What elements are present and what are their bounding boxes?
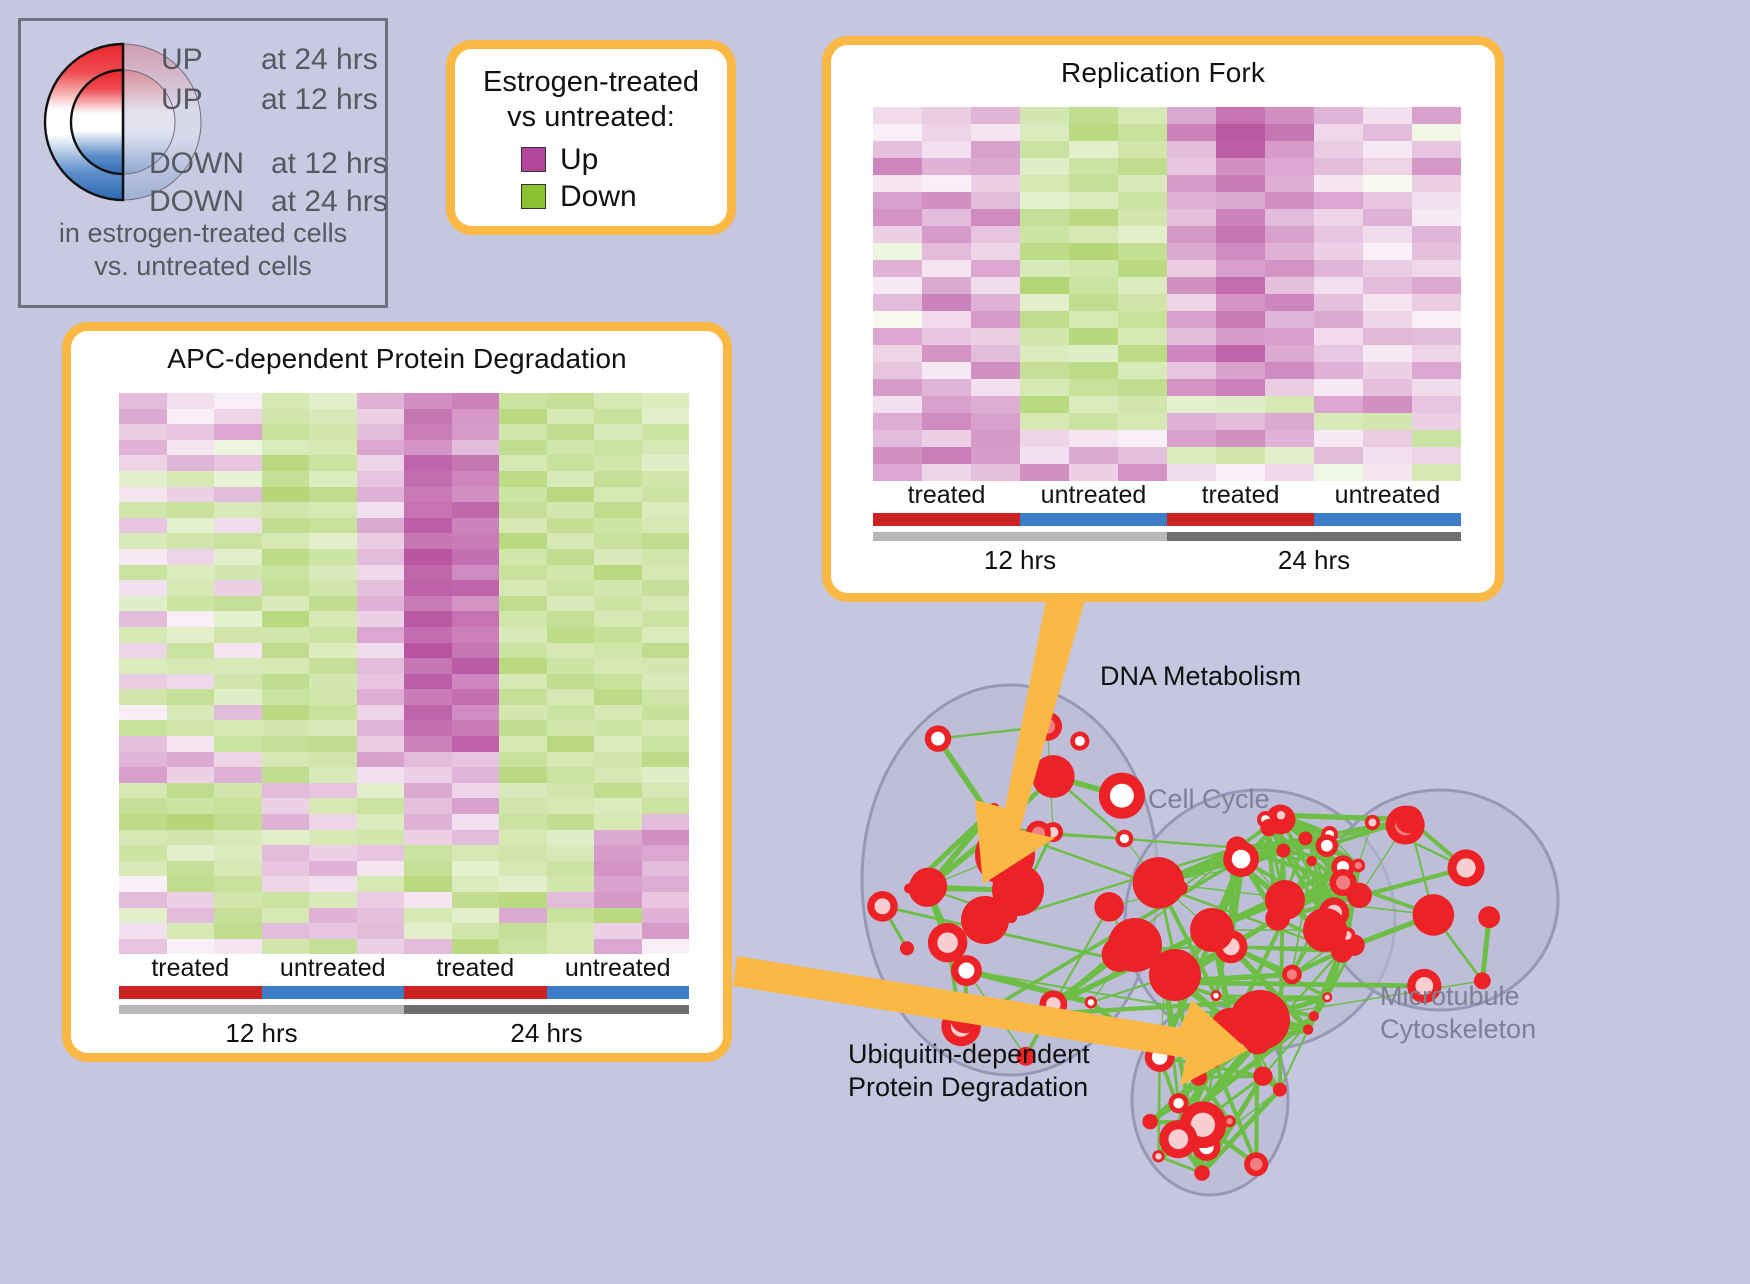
cluster-label-ubiquitin-degradation: Ubiquitin-dependent Protein Degradation [848, 1038, 1090, 1104]
heatmap-cell [547, 736, 595, 752]
heatmap-cell [119, 580, 167, 596]
network-node[interactable] [1413, 894, 1455, 936]
heatmap-cell [119, 611, 167, 627]
heatmap-cell [262, 720, 310, 736]
heatmap-cell [452, 643, 500, 659]
heatmap-cell [1020, 141, 1069, 158]
heatmap-cell [309, 440, 357, 456]
heatmap-cell [1216, 328, 1265, 345]
heatmap-cell [642, 533, 690, 549]
heatmap-cell [1412, 464, 1461, 481]
network-node[interactable] [1152, 1150, 1164, 1162]
network-node[interactable] [1190, 908, 1234, 952]
heatmap-cell [309, 393, 357, 409]
heatmap-cell [404, 892, 452, 908]
heatmap-cell [262, 518, 310, 534]
heatmap-cell [1167, 260, 1216, 277]
heatmap-cell [1118, 277, 1167, 294]
network-node[interactable] [1194, 1165, 1210, 1181]
heatmap-cell [1118, 447, 1167, 464]
heatmap-cell [1167, 430, 1216, 447]
heatmap-cell [499, 611, 547, 627]
heatmap-cell [642, 471, 690, 487]
heatmap-cell [262, 908, 310, 924]
network-node[interactable] [1116, 830, 1134, 848]
heatmap-cell [1363, 124, 1412, 141]
network-node[interactable] [1299, 831, 1313, 845]
condition-label: untreated [1314, 481, 1461, 513]
heatmap-cell [119, 798, 167, 814]
heatmap-cell [642, 752, 690, 768]
heatmap-cell [167, 643, 215, 659]
heatmap-cell [971, 243, 1020, 260]
heatmap-cell [1265, 328, 1314, 345]
heatmap-cell [357, 705, 405, 721]
heatmap-cell [214, 845, 262, 861]
heatmap-cell [1069, 413, 1118, 430]
heatmap-cell [309, 455, 357, 471]
heatmap-cell [594, 440, 642, 456]
heatmap-cell [1363, 396, 1412, 413]
network-node[interactable] [909, 870, 946, 907]
heatmap-cell [404, 783, 452, 799]
heatmap-cell [1363, 464, 1412, 481]
network-node[interactable] [1099, 773, 1145, 819]
network-node[interactable] [1085, 996, 1097, 1008]
heatmap-cell [1216, 345, 1265, 362]
heatmap-cell [452, 720, 500, 736]
heatmap-cell [167, 565, 215, 581]
key-footer-line1: in estrogen-treated cells [21, 217, 385, 250]
heatmap-cell [1216, 362, 1265, 379]
heatmap-cell [922, 413, 971, 430]
network-node[interactable] [1347, 883, 1372, 908]
network-node[interactable] [1273, 1083, 1287, 1097]
heatmap-cell [1216, 396, 1265, 413]
network-node[interactable] [1223, 841, 1259, 877]
network-node[interactable] [1190, 1069, 1207, 1086]
replication-fork-time-labels: 12 hrs24 hrs [873, 541, 1461, 576]
heatmap-cell [499, 939, 547, 955]
heatmap-cell [547, 908, 595, 924]
network-node[interactable] [1094, 892, 1124, 922]
heatmap-cell [262, 876, 310, 892]
heatmap-cell [309, 814, 357, 830]
heatmap-cell [873, 430, 922, 447]
network-node[interactable] [1142, 1114, 1157, 1129]
heatmap-cell [167, 783, 215, 799]
heatmap-cell [1216, 192, 1265, 209]
heatmap-cell [499, 440, 547, 456]
heatmap-cell [214, 939, 262, 955]
heatmap-cell [404, 861, 452, 877]
network-node[interactable] [1209, 1056, 1221, 1068]
heatmap-cell [873, 124, 922, 141]
heatmap-cell [214, 580, 262, 596]
heatmap-cell [594, 736, 642, 752]
heatmap-cell [1216, 447, 1265, 464]
network-node[interactable] [1265, 880, 1305, 920]
heatmap-cell [309, 471, 357, 487]
network-node[interactable] [1306, 856, 1316, 866]
network-node[interactable] [1303, 1024, 1313, 1034]
heatmap-cell [452, 674, 500, 690]
network-node[interactable] [900, 941, 914, 955]
heatmap-cell [262, 580, 310, 596]
heatmap-cell [214, 923, 262, 939]
heatmap-cell [309, 908, 357, 924]
heatmap-cell [357, 752, 405, 768]
heatmap-cell [167, 689, 215, 705]
heatmap-cell [1216, 175, 1265, 192]
legend-item-up: Up [521, 143, 727, 177]
heatmap-cell [1265, 107, 1314, 124]
heatmap-cell [922, 107, 971, 124]
heatmap-cell [1069, 260, 1118, 277]
time-bar [119, 1005, 404, 1014]
heatmap-cell [499, 533, 547, 549]
network-node[interactable] [1351, 859, 1365, 873]
heatmap-cell [1412, 311, 1461, 328]
heatmap-cell [1314, 311, 1363, 328]
heatmap-cell [119, 487, 167, 503]
heatmap-cell [262, 487, 310, 503]
heatmap-cell [594, 674, 642, 690]
heatmap-cell [1363, 294, 1412, 311]
heatmap-cell [642, 736, 690, 752]
heatmap-cell [1314, 362, 1363, 379]
heatmap-cell [452, 580, 500, 596]
heatmap-cell [1412, 328, 1461, 345]
heatmap-cell [309, 845, 357, 861]
heatmap-cell [1020, 413, 1069, 430]
heatmap-cell [971, 328, 1020, 345]
heatmap-cell [499, 424, 547, 440]
heatmap-cell [357, 939, 405, 955]
heatmap-cell [262, 861, 310, 877]
heatmap-cell [499, 565, 547, 581]
key-time-up-12: at 12 hrs [261, 83, 378, 117]
heatmap-cell [547, 502, 595, 518]
heatmap-cell [1069, 209, 1118, 226]
heatmap-cell [499, 705, 547, 721]
network-node[interactable] [1273, 807, 1289, 823]
heatmap-cell [1412, 175, 1461, 192]
heatmap-cell [594, 393, 642, 409]
network-node[interactable] [1309, 1011, 1319, 1021]
network-node[interactable] [925, 725, 951, 751]
updown-heading-line1: Estrogen-treated [455, 65, 727, 100]
network-node[interactable] [1039, 990, 1067, 1018]
heatmap-cell [971, 226, 1020, 243]
heatmap-cell [1265, 413, 1314, 430]
heatmap-cell [499, 549, 547, 565]
heatmap-cell [971, 192, 1020, 209]
heatmap-cell [262, 440, 310, 456]
heatmap-cell [547, 752, 595, 768]
heatmap-cell [404, 689, 452, 705]
network-node[interactable] [1230, 990, 1290, 1050]
heatmap-cell [167, 705, 215, 721]
heatmap-cell [262, 455, 310, 471]
heatmap-cell [357, 580, 405, 596]
network-node[interactable] [989, 803, 1000, 814]
heatmap-cell [404, 627, 452, 643]
heatmap-cell [309, 611, 357, 627]
heatmap-cell [547, 861, 595, 877]
heatmap-cell [309, 580, 357, 596]
heatmap-cell [452, 424, 500, 440]
heatmap-cell [873, 294, 922, 311]
heatmap-cell [1167, 379, 1216, 396]
heatmap-cell [1069, 158, 1118, 175]
heatmap-cell [971, 175, 1020, 192]
heatmap-cell [1314, 345, 1363, 362]
heatmap-cell [214, 643, 262, 659]
heatmap-cell [1167, 396, 1216, 413]
heatmap-cell [1167, 294, 1216, 311]
heatmap-cell [1265, 294, 1314, 311]
network-node[interactable] [1145, 1042, 1175, 1072]
heatmap-cell [594, 643, 642, 659]
heatmap-cell [594, 845, 642, 861]
heatmap-cell [167, 720, 215, 736]
heatmap-cell [1265, 141, 1314, 158]
heatmap-cell [1069, 107, 1118, 124]
heatmap-cell [547, 689, 595, 705]
heatmap-cell [642, 908, 690, 924]
heatmap-cell [1363, 175, 1412, 192]
heatmap-cell [1118, 345, 1167, 362]
heatmap-cell [873, 175, 922, 192]
heatmap-cell [971, 260, 1020, 277]
heatmap-cell [452, 923, 500, 939]
heatmap-cell [119, 861, 167, 877]
heatmap-cell [499, 674, 547, 690]
heatmap-cell [452, 783, 500, 799]
network-node[interactable] [1108, 918, 1162, 972]
replication-fork-card: Replication Fork treateduntreatedtreated… [822, 36, 1504, 602]
heatmap-cell [452, 487, 500, 503]
heatmap-cell [1216, 107, 1265, 124]
network-node[interactable] [1282, 965, 1302, 985]
heatmap-cell [1412, 209, 1461, 226]
heatmap-cell [547, 767, 595, 783]
heatmap-cell [309, 705, 357, 721]
down-label: Down [560, 180, 637, 214]
up-down-legend-card: Estrogen-treated vs untreated: Up Down [446, 40, 736, 235]
heatmap-cell [167, 580, 215, 596]
heatmap-cell [1167, 124, 1216, 141]
heatmap-cell [1118, 413, 1167, 430]
heatmap-cell [404, 424, 452, 440]
heatmap-cell [642, 689, 690, 705]
heatmap-cell [499, 518, 547, 534]
heatmap-cell [167, 533, 215, 549]
heatmap-cell [214, 455, 262, 471]
heatmap-cell [1020, 209, 1069, 226]
heatmap-cell [547, 533, 595, 549]
replication-fork-condition-labels: treateduntreatedtreateduntreated [873, 481, 1461, 513]
heatmap-cell [873, 379, 922, 396]
heatmap-cell [357, 611, 405, 627]
heatmap-cell [452, 939, 500, 955]
network-node[interactable] [1244, 1152, 1268, 1176]
heatmap-cell [309, 876, 357, 892]
heatmap-cell [1167, 192, 1216, 209]
heatmap-cell [309, 409, 357, 425]
heatmap-cell [1363, 311, 1412, 328]
heatmap-cell [1363, 345, 1412, 362]
network-node[interactable] [950, 1004, 979, 1033]
network-node[interactable] [1211, 990, 1222, 1001]
heatmap-cell [594, 611, 642, 627]
heatmap-cell [214, 658, 262, 674]
heatmap-cell [404, 533, 452, 549]
heatmap-cell [1167, 447, 1216, 464]
heatmap-cell [167, 876, 215, 892]
network-node[interactable] [1253, 1067, 1272, 1086]
heatmap-cell [1314, 430, 1363, 447]
network-node[interactable] [1303, 908, 1347, 952]
network-node[interactable] [867, 891, 898, 922]
network-node[interactable] [1070, 731, 1089, 750]
heatmap-cell [357, 876, 405, 892]
heatmap-cell [452, 767, 500, 783]
down-color-swatch [521, 184, 546, 209]
heatmap-cell [167, 892, 215, 908]
heatmap-cell [1216, 158, 1265, 175]
heatmap-cell [1118, 175, 1167, 192]
heatmap-cell [1265, 345, 1314, 362]
heatmap-cell [594, 908, 642, 924]
heatmap-cell [119, 627, 167, 643]
network-node[interactable] [1260, 819, 1277, 836]
heatmap-cell [1412, 362, 1461, 379]
heatmap-cell [1118, 260, 1167, 277]
heatmap-cell [214, 409, 262, 425]
heatmap-cell [1265, 464, 1314, 481]
heatmap-cell [1363, 447, 1412, 464]
heatmap-cell [1069, 141, 1118, 158]
network-node[interactable] [1133, 857, 1184, 908]
network-node[interactable] [1365, 815, 1380, 830]
heatmap-cell [1069, 226, 1118, 243]
heatmap-cell [262, 845, 310, 861]
network-node[interactable] [1395, 806, 1423, 834]
heatmap-cell [309, 533, 357, 549]
heatmap-cell [1412, 243, 1461, 260]
apc-degradation-title: APC-dependent Protein Degradation [71, 331, 723, 381]
condition-label: treated [119, 954, 262, 986]
heatmap-cell [404, 767, 452, 783]
network-node[interactable] [1478, 906, 1500, 928]
heatmap-cell [214, 705, 262, 721]
heatmap-cell [404, 611, 452, 627]
updown-item-list: Up Down [521, 143, 727, 214]
heatmap-cell [1069, 243, 1118, 260]
heatmap-cell [1412, 124, 1461, 141]
heatmap-cell [119, 424, 167, 440]
heatmap-cell [547, 596, 595, 612]
heatmap-cell [262, 502, 310, 518]
heatmap-cell [873, 277, 922, 294]
heatmap-cell [1314, 175, 1363, 192]
heatmap-cell [1265, 396, 1314, 413]
network-node[interactable] [1198, 1103, 1202, 1107]
heatmap-cell [594, 533, 642, 549]
heatmap-cell [357, 518, 405, 534]
heatmap-cell [452, 440, 500, 456]
heatmap-cell [1167, 345, 1216, 362]
network-node[interactable] [1316, 834, 1339, 857]
heatmap-cell [167, 455, 215, 471]
network-node[interactable] [1159, 1120, 1197, 1158]
heatmap-cell [357, 502, 405, 518]
heatmap-cell [547, 471, 595, 487]
network-node[interactable] [1322, 992, 1332, 1002]
heatmap-cell [873, 328, 922, 345]
heatmap-cell [357, 720, 405, 736]
heatmap-cell [1020, 124, 1069, 141]
heatmap-cell [452, 565, 500, 581]
heatmap-cell [1118, 243, 1167, 260]
heatmap-cell [1020, 396, 1069, 413]
heatmap-cell [971, 158, 1020, 175]
network-node[interactable] [961, 896, 1009, 944]
network-node[interactable] [1276, 844, 1290, 858]
heatmap-cell [167, 549, 215, 565]
network-node[interactable] [1032, 755, 1075, 798]
heatmap-cell [357, 627, 405, 643]
heatmap-cell [214, 783, 262, 799]
heatmap-cell [119, 705, 167, 721]
heatmap-cell [1069, 328, 1118, 345]
heatmap-cell [262, 814, 310, 830]
heatmap-cell [167, 939, 215, 955]
heatmap-cell [642, 627, 690, 643]
heatmap-cell [594, 518, 642, 534]
heatmap-cell [119, 643, 167, 659]
network-node[interactable] [928, 923, 968, 963]
heatmap-cell [404, 565, 452, 581]
heatmap-cell [1118, 379, 1167, 396]
heatmap-cell [262, 923, 310, 939]
heatmap-cell [873, 141, 922, 158]
network-node[interactable] [1448, 849, 1485, 886]
heatmap-cell [167, 845, 215, 861]
heatmap-cell [1265, 209, 1314, 226]
heatmap-cell [404, 487, 452, 503]
heatmap-cell [922, 379, 971, 396]
heatmap-cell [499, 923, 547, 939]
heatmap-cell [357, 861, 405, 877]
network-node[interactable] [1033, 712, 1062, 741]
heatmap-cell [922, 464, 971, 481]
heatmap-cell [119, 689, 167, 705]
heatmap-cell [971, 209, 1020, 226]
heatmap-cell [499, 814, 547, 830]
heatmap-cell [1118, 311, 1167, 328]
heatmap-cell [922, 243, 971, 260]
heatmap-cell [499, 627, 547, 643]
heatmap-cell [642, 658, 690, 674]
heatmap-cell [642, 455, 690, 471]
heatmap-cell [167, 409, 215, 425]
heatmap-cell [922, 192, 971, 209]
heatmap-cell [167, 502, 215, 518]
heatmap-cell [452, 502, 500, 518]
